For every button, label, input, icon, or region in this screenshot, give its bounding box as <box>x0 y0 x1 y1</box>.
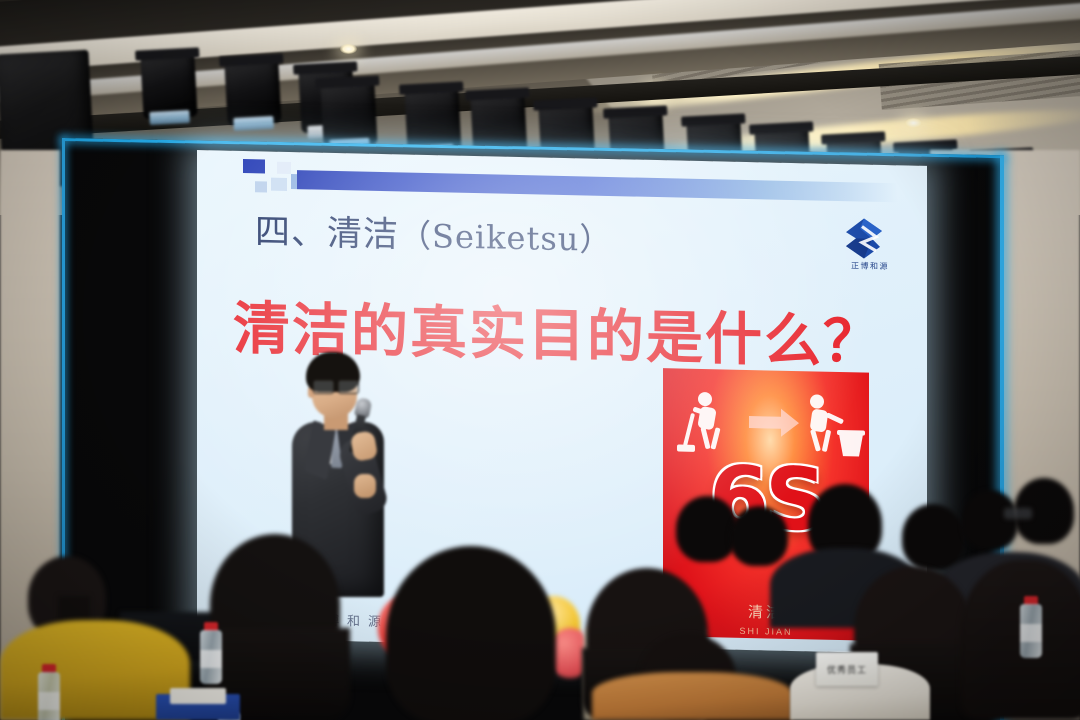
audience-member-camel-coat <box>592 672 792 720</box>
stage-light <box>320 83 377 148</box>
z-monogram-icon <box>842 216 898 261</box>
stage-light <box>140 55 197 120</box>
slide-deco-square <box>277 162 291 174</box>
slide-heading-paren-open: （ <box>399 216 432 255</box>
slide-heading-romaji: Seiketsu <box>432 217 579 258</box>
audience-head <box>902 504 964 570</box>
slide-heading-cn: 四、清洁 <box>255 212 399 255</box>
slide-deco-bar <box>297 170 897 202</box>
water-bottle <box>38 664 60 720</box>
audience-head <box>676 496 738 562</box>
audience-head <box>962 490 1018 550</box>
presentation-scene-photo: 四、清洁（Seiketsu） 清洁的真实目的是什么？ 正博和源品质及实验 正博和… <box>0 0 1080 720</box>
glasses-icon <box>313 380 359 392</box>
stage-light <box>224 61 281 126</box>
slide-heading-paren-close: ） <box>579 220 612 259</box>
presenter-hand <box>354 474 376 498</box>
table-paper <box>170 688 226 704</box>
water-bottle <box>200 622 222 684</box>
certificate: 优秀员工 <box>816 652 878 686</box>
audience-head <box>730 506 788 566</box>
slide-deco-square <box>271 178 287 191</box>
downlight <box>905 118 922 128</box>
glasses-icon <box>1004 508 1032 519</box>
audience-head <box>386 546 556 720</box>
brand-logo: 正博和源 <box>839 216 901 279</box>
brand-name: 正博和源 <box>835 260 905 273</box>
slide-deco-square <box>255 181 267 192</box>
certificate-text: 优秀员工 <box>827 663 867 676</box>
water-bottle <box>1020 596 1042 658</box>
downlight <box>340 44 357 54</box>
slide-deco-square <box>243 159 265 173</box>
slide-heading: 四、清洁（Seiketsu） <box>255 203 612 262</box>
